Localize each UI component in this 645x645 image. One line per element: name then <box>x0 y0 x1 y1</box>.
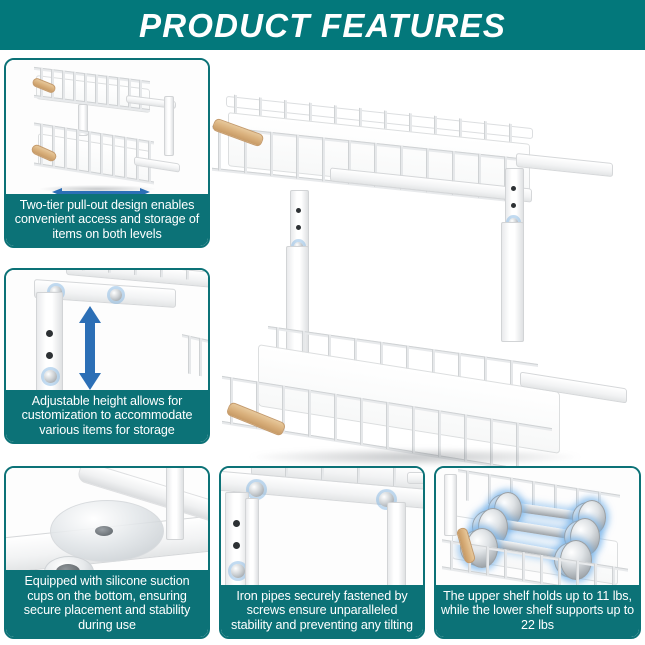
right-lower-post <box>501 222 524 342</box>
feature-card-suction-cups[interactable]: Equipped with silicone suction cups on t… <box>4 466 210 639</box>
card-3-caption: Equipped with silicone suction cups on t… <box>6 570 208 637</box>
hero-shadow <box>250 448 580 466</box>
capacity-left-post <box>444 474 457 536</box>
left-iron-post-lower <box>245 498 259 589</box>
frame-screw-left <box>249 482 264 497</box>
page-title: PRODUCT FEATURES <box>139 9 506 42</box>
feature-card-adjustable-height[interactable]: Adjustable height allows for customizati… <box>4 268 210 444</box>
vertical-post-right <box>166 468 184 540</box>
card-5-caption: The upper shelf holds up to 11 lbs, whil… <box>436 585 639 637</box>
right-iron-post <box>387 502 406 589</box>
post-adjust-screw <box>44 370 57 383</box>
card-4-image <box>221 468 423 589</box>
page-header: PRODUCT FEATURES <box>0 0 645 50</box>
mini-right-post <box>164 96 174 156</box>
vertical-double-arrow-icon <box>79 306 101 390</box>
crossbar-screw-right <box>110 289 122 301</box>
feature-card-two-tier-pullout[interactable]: Two-tier pull-out design enables conveni… <box>4 58 210 248</box>
card-2-image <box>6 270 208 399</box>
card-1-caption: Two-tier pull-out design enables conveni… <box>6 194 208 246</box>
card-4-caption: Iron pipes securely fastened by screws e… <box>221 585 423 637</box>
card-5-image <box>436 468 639 589</box>
closeup-right-basket-fragment <box>182 334 208 382</box>
upper-slide-rail-extension <box>516 153 613 177</box>
card-1-image <box>6 60 208 200</box>
suction-cup-center-hole <box>95 526 113 536</box>
feature-card-weight-capacity[interactable]: The upper shelf holds up to 11 lbs, whil… <box>434 466 641 639</box>
left-post-adjust-screw <box>231 564 245 578</box>
feature-card-iron-pipes[interactable]: Iron pipes securely fastened by screws e… <box>219 466 425 639</box>
card-2-caption: Adjustable height allows for customizati… <box>6 390 208 442</box>
top-right-bracket <box>407 472 423 484</box>
